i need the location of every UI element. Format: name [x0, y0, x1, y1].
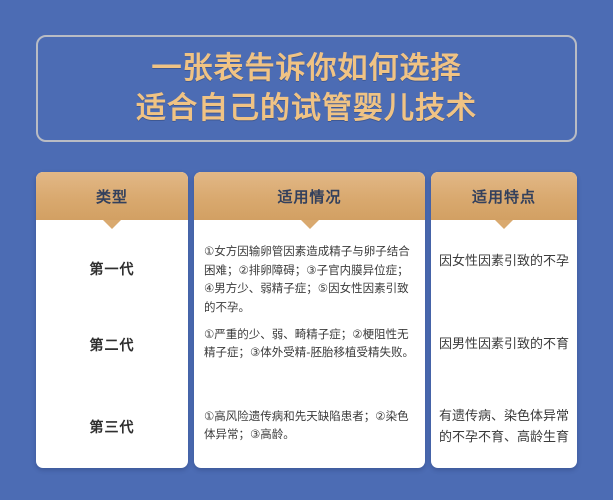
column-header-type-label: 类型	[96, 186, 128, 207]
column-body-type: 第一代 第二代 第三代	[36, 220, 188, 468]
column-header-type: 类型	[36, 172, 188, 220]
cell-type-2: 第二代	[90, 335, 135, 355]
cell-feature-3: 有遗传病、染色体异常的不孕不育、高龄生育	[439, 406, 569, 448]
comparison-table: 类型 第一代 第二代 第三代 适用情况 ①女方因输卵管因素造成精子与卵子结合困难…	[0, 172, 613, 472]
table-row: 因男性因素引致的不育	[431, 304, 577, 386]
column-header-case: 适用情况	[194, 172, 425, 220]
table-row: ①严重的少、弱、畸精子症；②梗阻性无精子症；③体外受精-胚胎移植受精失败。	[194, 317, 425, 399]
column-header-feature: 适用特点	[431, 172, 577, 220]
table-row: ①女方因输卵管因素造成精子与卵子结合困难；②排卵障碍；③子官内膜异位症；④男方少…	[194, 220, 425, 317]
column-header-case-label: 适用情况	[277, 186, 341, 207]
table-column-feature: 适用特点 因女性因素引致的不孕 因男性因素引致的不育 有遗传病、染色体异常的不孕…	[431, 172, 577, 468]
table-row: 有遗传病、染色体异常的不孕不育、高龄生育	[431, 386, 577, 468]
cell-case-3: ①高风险遗传病和先天缺陷患者；②染色体异常；③高龄。	[204, 407, 415, 444]
cell-type-3: 第三代	[90, 417, 135, 437]
title-line-2: 适合自己的试管婴儿技术	[136, 89, 477, 129]
cell-type-1: 第一代	[90, 259, 135, 279]
title-line-1: 一张表告诉你如何选择	[152, 49, 462, 89]
table-column-type: 类型 第一代 第二代 第三代	[36, 172, 188, 468]
cell-case-2: ①严重的少、弱、畸精子症；②梗阻性无精子症；③体外受精-胚胎移植受精失败。	[204, 325, 415, 362]
table-row: 第三代	[36, 386, 188, 468]
table-column-case: 适用情况 ①女方因输卵管因素造成精子与卵子结合困难；②排卵障碍；③子官内膜异位症…	[194, 172, 425, 468]
column-header-feature-label: 适用特点	[472, 186, 536, 207]
cell-case-1: ①女方因输卵管因素造成精子与卵子结合困难；②排卵障碍；③子官内膜异位症；④男方少…	[204, 242, 415, 317]
column-body-feature: 因女性因素引致的不孕 因男性因素引致的不育 有遗传病、染色体异常的不孕不育、高龄…	[431, 220, 577, 468]
cell-feature-2: 因男性因素引致的不育	[439, 334, 569, 355]
column-body-case: ①女方因输卵管因素造成精子与卵子结合困难；②排卵障碍；③子官内膜异位症；④男方少…	[194, 220, 425, 468]
table-row: 第一代	[36, 220, 188, 304]
table-row: 第二代	[36, 304, 188, 386]
cell-feature-1: 因女性因素引致的不孕	[439, 251, 569, 272]
table-row: ①高风险遗传病和先天缺陷患者；②染色体异常；③高龄。	[194, 399, 425, 469]
table-row: 因女性因素引致的不孕	[431, 220, 577, 304]
title-banner: 一张表告诉你如何选择 适合自己的试管婴儿技术	[36, 35, 577, 142]
